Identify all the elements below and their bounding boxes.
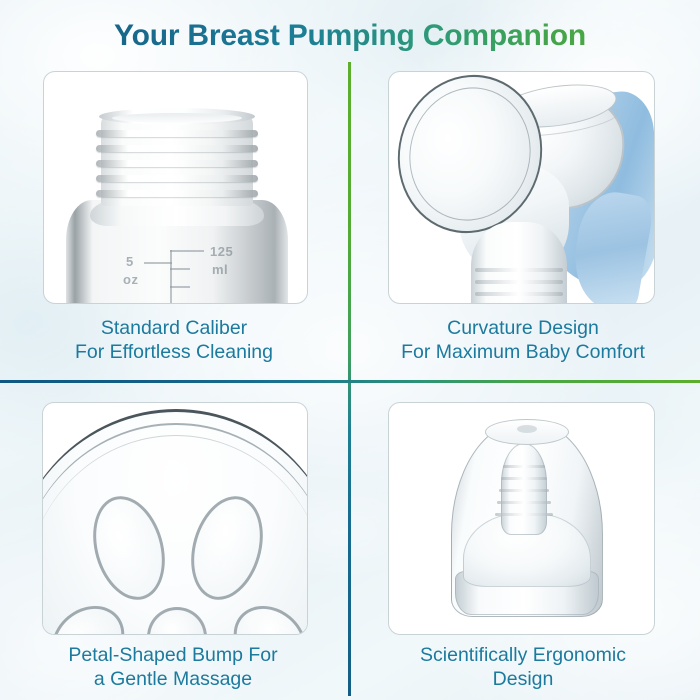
page-title: Your Breast Pumping Companion — [0, 19, 700, 53]
infographic-page: Your Breast Pumping Companion 5 oz 125 m… — [0, 0, 700, 700]
feature-card-petal-shaped-bump[interactable] — [42, 402, 308, 635]
horizontal-divider — [0, 380, 700, 383]
silicone-nipple-dome-cap-photo — [389, 403, 654, 634]
vertical-divider — [348, 62, 351, 696]
wide-neck-bottle-photo: 5 oz 125 ml — [44, 72, 307, 303]
feature-card-curvature-design[interactable] — [388, 71, 655, 304]
manual-breast-pump-flange-photo — [389, 72, 654, 303]
bottle-marking-ml-value: 125 — [210, 244, 233, 259]
bottle-marking-oz-unit: oz — [123, 272, 138, 287]
petal-massage-cushion-photo — [43, 403, 307, 634]
feature-caption-petal-shaped-bump: Petal-Shaped Bump For a Gentle Massage — [16, 643, 330, 691]
feature-caption-standard-caliber: Standard Caliber For Effortless Cleaning — [18, 316, 330, 364]
bottle-marking-oz-value: 5 — [126, 254, 134, 269]
feature-card-scientifically-ergonomic[interactable] — [388, 402, 655, 635]
bottle-marking-ml-unit: ml — [212, 262, 228, 277]
feature-caption-scientifically-ergonomic: Scientifically Ergonomic Design — [362, 643, 684, 691]
feature-card-standard-caliber[interactable]: 5 oz 125 ml — [43, 71, 308, 304]
feature-caption-curvature-design: Curvature Design For Maximum Baby Comfor… — [358, 316, 688, 364]
